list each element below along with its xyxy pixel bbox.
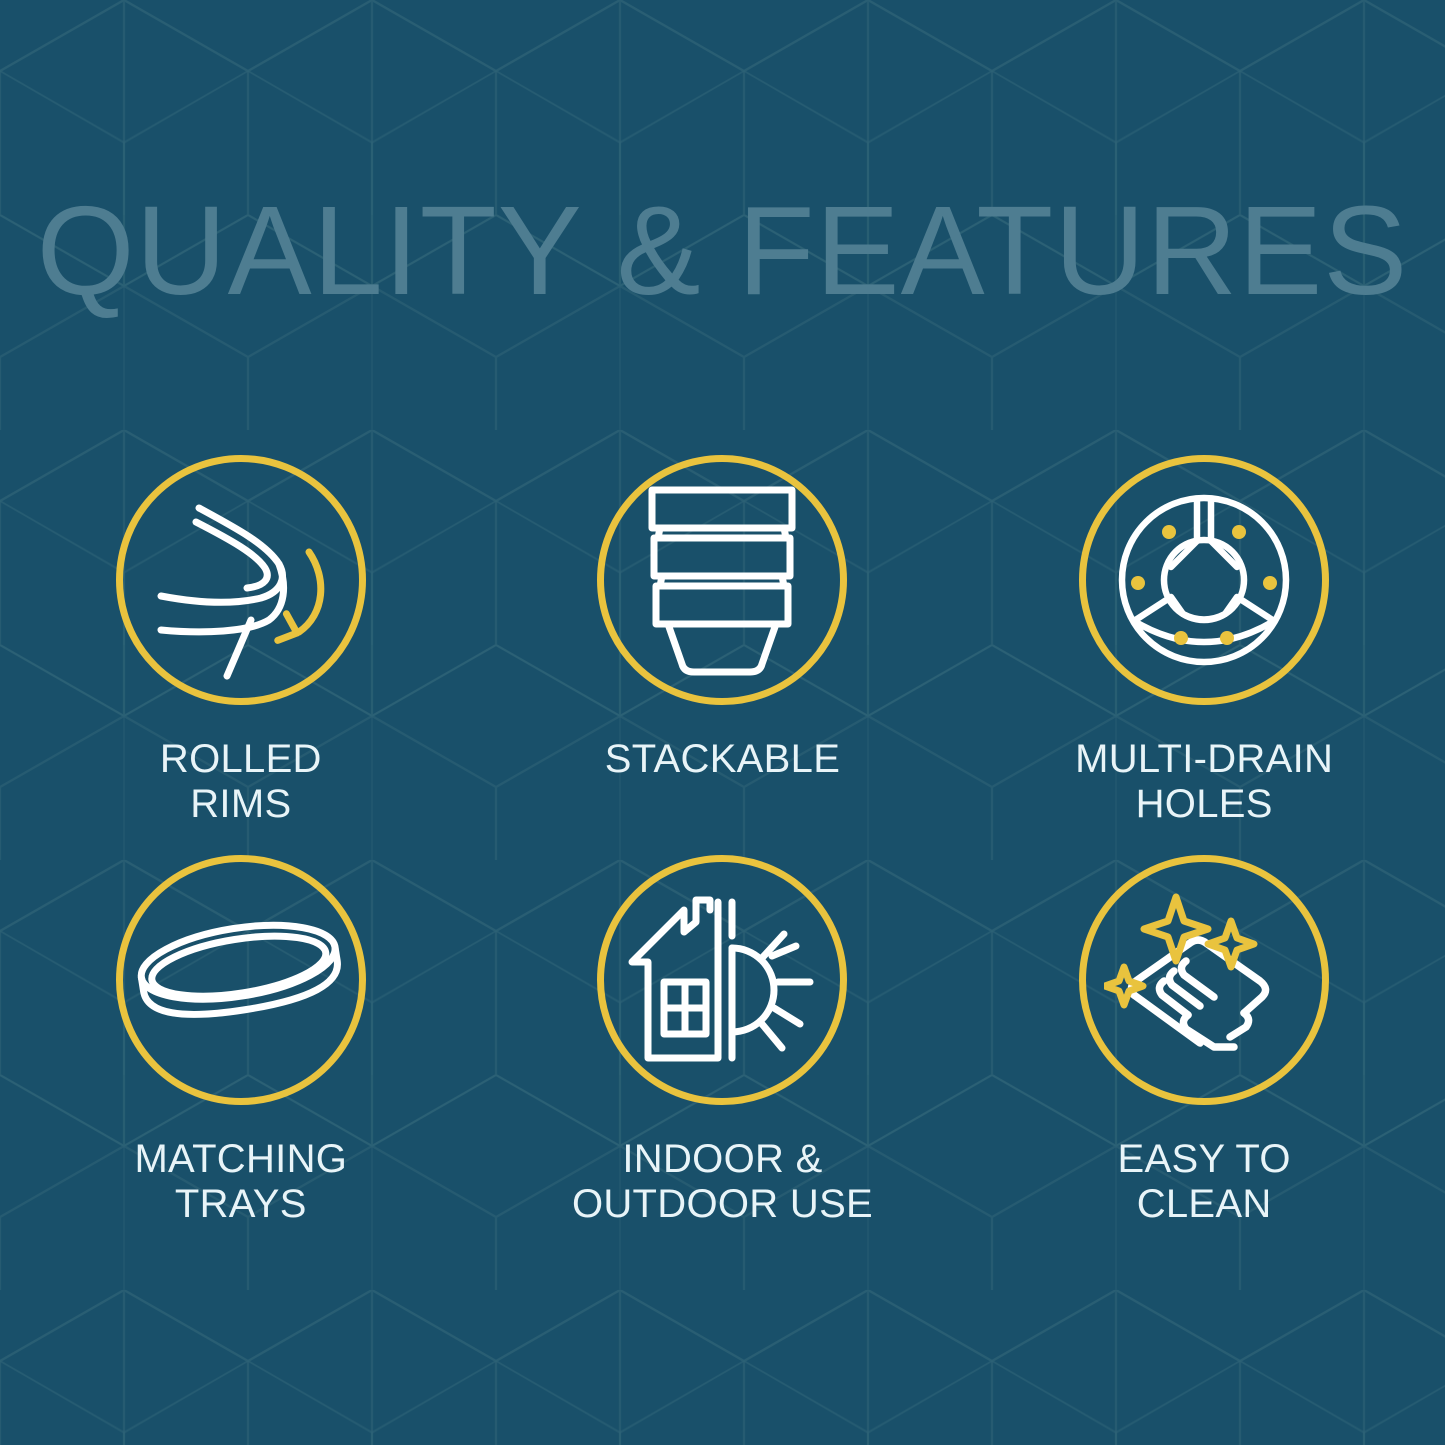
hand-wipe-sparkle-icon <box>1104 885 1304 1075</box>
feature-item-rolled-rims: ROLLED RIMS <box>0 455 482 855</box>
feature-badge-indoor-outdoor-use <box>597 855 847 1105</box>
house-sun-icon <box>622 890 822 1070</box>
feature-item-stackable: STACKABLE <box>482 455 964 855</box>
oval-tray-icon <box>136 910 346 1050</box>
drain-holes-icon <box>1109 485 1299 675</box>
feature-label-rolled-rims: ROLLED RIMS <box>160 737 322 827</box>
feature-label-matching-trays: MATCHING TRAYS <box>134 1137 347 1227</box>
feature-grid: ROLLED RIMS <box>0 455 1445 1255</box>
feature-label-multi-drain-holes: MULTI-DRAIN HOLES <box>1075 737 1333 827</box>
feature-item-easy-to-clean: EASY TO CLEAN <box>963 855 1445 1255</box>
feature-badge-matching-trays <box>116 855 366 1105</box>
feature-badge-stackable <box>597 455 847 705</box>
stacked-pots-icon <box>632 480 812 680</box>
feature-badge-multi-drain-holes <box>1079 455 1329 705</box>
feature-label-easy-to-clean: EASY TO CLEAN <box>1118 1137 1291 1227</box>
feature-label-stackable: STACKABLE <box>605 737 840 782</box>
feature-item-indoor-outdoor-use: INDOOR & OUTDOOR USE <box>482 855 964 1255</box>
rolled-rim-icon <box>141 480 341 680</box>
feature-badge-rolled-rims <box>116 455 366 705</box>
feature-badge-easy-to-clean <box>1079 855 1329 1105</box>
feature-item-multi-drain-holes: MULTI-DRAIN HOLES <box>963 455 1445 855</box>
feature-item-matching-trays: MATCHING TRAYS <box>0 855 482 1255</box>
quality-features-panel: QUALITY & FEATURES <box>0 0 1445 1445</box>
feature-label-indoor-outdoor-use: INDOOR & OUTDOOR USE <box>572 1137 873 1227</box>
page-title: QUALITY & FEATURES <box>0 188 1445 314</box>
